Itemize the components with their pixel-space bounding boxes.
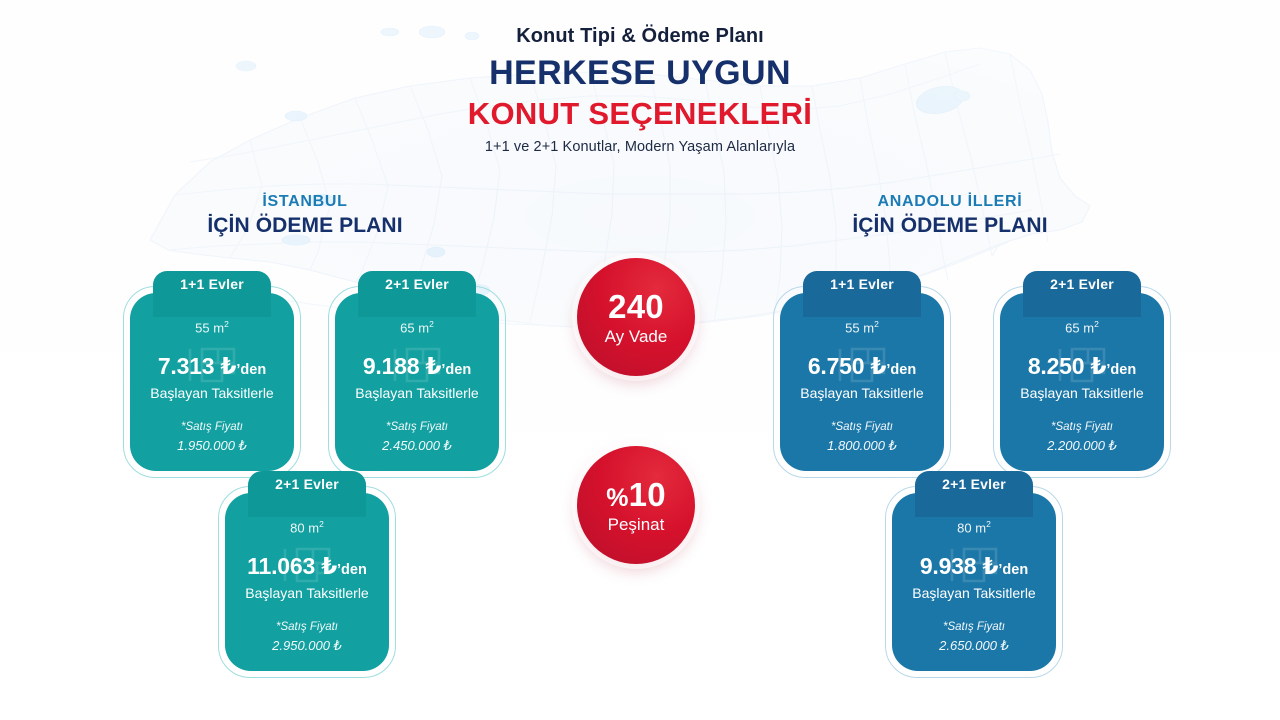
card-sale-price: 2.450.000 ₺ bbox=[335, 436, 499, 456]
card-sale-price: 1.950.000 ₺ bbox=[130, 436, 294, 456]
floor-plan-watermark-icon bbox=[1054, 343, 1110, 387]
plan-card-anadolu-2plus1-80[interactable]: 2+1 Evler 80 m2 9.938 ₺’den Başlayan Tak… bbox=[892, 493, 1056, 671]
floor-plan-watermark-icon bbox=[834, 343, 890, 387]
card-price-note: *Satış Fiyatı2.450.000 ₺ bbox=[335, 419, 499, 456]
card-price-note: *Satış Fiyatı1.950.000 ₺ bbox=[130, 419, 294, 456]
plan-card-anadolu-2plus1-65[interactable]: 2+1 Evler 65 m2 8.250 ₺’den Başlayan Tak… bbox=[1000, 293, 1164, 471]
card-installment-caption: Başlayan Taksitlerle bbox=[780, 385, 944, 401]
badge-downpayment: %10 Peşinat bbox=[577, 446, 695, 564]
badge-downpayment-value: %10 bbox=[606, 478, 666, 511]
card-area: 80 m2 bbox=[225, 519, 389, 535]
badge-downpayment-label: Peşinat bbox=[608, 516, 665, 533]
card-price-note: *Satış Fiyatı2.950.000 ₺ bbox=[225, 619, 389, 656]
card-type-label: 2+1 Evler bbox=[358, 277, 476, 292]
floor-plan-watermark-icon bbox=[946, 543, 1002, 587]
header-title: HERKESE UYGUN bbox=[0, 55, 1280, 92]
card-price-note: *Satış Fiyatı2.650.000 ₺ bbox=[892, 619, 1056, 656]
badge-term-value: 240 bbox=[608, 290, 664, 323]
card-installment-caption: Başlayan Taksitlerle bbox=[1000, 385, 1164, 401]
region-label-anadolu: ANADOLU İLLERİ bbox=[790, 192, 1110, 212]
card-sale-price: 2.200.000 ₺ bbox=[1000, 436, 1164, 456]
page-header: Konut Tipi & Ödeme Planı HERKESE UYGUN K… bbox=[0, 24, 1280, 155]
column-heading-anadolu: ANADOLU İLLERİ İÇİN ÖDEME PLANI bbox=[790, 192, 1110, 239]
card-area: 65 m2 bbox=[335, 319, 499, 335]
plan-card-anadolu-1plus1-55[interactable]: 1+1 Evler 55 m2 6.750 ₺’den Başlayan Tak… bbox=[780, 293, 944, 471]
card-sale-price: 2.950.000 ₺ bbox=[225, 636, 389, 656]
floor-plan-watermark-icon bbox=[184, 343, 240, 387]
card-area: 80 m2 bbox=[892, 519, 1056, 535]
card-area: 65 m2 bbox=[1000, 319, 1164, 335]
header-kicker: Konut Tipi & Ödeme Planı bbox=[0, 24, 1280, 48]
plan-card-istanbul-2plus1-80[interactable]: 2+1 Evler 80 m2 11.063 ₺’den Başlayan Ta… bbox=[225, 493, 389, 671]
card-area: 55 m2 bbox=[130, 319, 294, 335]
card-installment-caption: Başlayan Taksitlerle bbox=[892, 585, 1056, 601]
infographic-canvas: Konut Tipi & Ödeme Planı HERKESE UYGUN K… bbox=[0, 0, 1280, 720]
card-area: 55 m2 bbox=[780, 319, 944, 335]
card-installment-caption: Başlayan Taksitlerle bbox=[130, 385, 294, 401]
floor-plan-watermark-icon bbox=[389, 343, 445, 387]
card-installment-caption: Başlayan Taksitlerle bbox=[335, 385, 499, 401]
card-type-label: 1+1 Evler bbox=[803, 277, 921, 292]
card-sale-price: 2.650.000 ₺ bbox=[892, 636, 1056, 656]
card-type-label: 1+1 Evler bbox=[153, 277, 271, 292]
card-type-label: 2+1 Evler bbox=[915, 477, 1033, 492]
card-price-note: *Satış Fiyatı1.800.000 ₺ bbox=[780, 419, 944, 456]
header-title-accent: KONUT SEÇENEKLERİ bbox=[0, 97, 1280, 131]
region-label-istanbul: İSTANBUL bbox=[145, 192, 465, 212]
card-type-label: 2+1 Evler bbox=[248, 477, 366, 492]
badge-term-months: 240 Ay Vade bbox=[577, 258, 695, 376]
column-heading-istanbul: İSTANBUL İÇİN ÖDEME PLANI bbox=[145, 192, 465, 239]
plan-card-istanbul-2plus1-65[interactable]: 2+1 Evler 65 m2 9.188 ₺’den Başlayan Tak… bbox=[335, 293, 499, 471]
card-sale-price: 1.800.000 ₺ bbox=[780, 436, 944, 456]
card-price-note: *Satış Fiyatı2.200.000 ₺ bbox=[1000, 419, 1164, 456]
badge-term-label: Ay Vade bbox=[605, 328, 668, 345]
header-subtitle: 1+1 ve 2+1 Konutlar, Modern Yaşam Alanla… bbox=[0, 139, 1280, 155]
card-installment-caption: Başlayan Taksitlerle bbox=[225, 585, 389, 601]
plan-label-istanbul: İÇİN ÖDEME PLANI bbox=[145, 213, 465, 239]
plan-label-anadolu: İÇİN ÖDEME PLANI bbox=[790, 213, 1110, 239]
card-type-label: 2+1 Evler bbox=[1023, 277, 1141, 292]
plan-card-istanbul-1plus1-55[interactable]: 1+1 Evler 55 m2 7.313 ₺’den Başlayan Tak… bbox=[130, 293, 294, 471]
floor-plan-watermark-icon bbox=[279, 543, 335, 587]
